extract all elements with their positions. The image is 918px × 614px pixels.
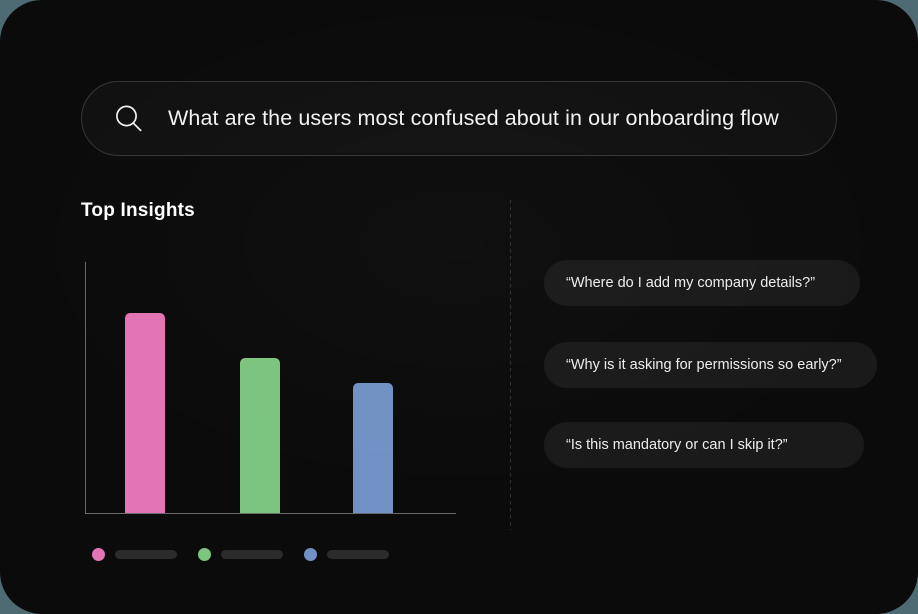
chart-bar[interactable]: [125, 313, 165, 513]
chart-legend: [92, 548, 422, 566]
legend-color-dot: [92, 548, 105, 561]
legend-item[interactable]: [304, 548, 389, 561]
chart-bar[interactable]: [353, 383, 393, 513]
search-bar[interactable]: What are the users most confused about i…: [81, 81, 837, 156]
legend-label-placeholder: [115, 550, 177, 559]
search-icon: [112, 102, 146, 136]
insights-bar-chart: [85, 262, 457, 514]
legend-label-placeholder: [327, 550, 389, 559]
quote-card[interactable]: “Why is it asking for permissions so ear…: [544, 342, 877, 388]
chart-bar[interactable]: [240, 358, 280, 513]
legend-label-placeholder: [221, 550, 283, 559]
legend-item[interactable]: [198, 548, 283, 561]
quote-text: “Why is it asking for permissions so ear…: [566, 357, 842, 373]
legend-color-dot: [198, 548, 211, 561]
legend-color-dot: [304, 548, 317, 561]
section-divider: [510, 200, 511, 530]
search-input[interactable]: What are the users most confused about i…: [168, 106, 779, 131]
app-window: What are the users most confused about i…: [0, 0, 918, 614]
legend-item[interactable]: [92, 548, 177, 561]
chart-x-axis: [85, 513, 456, 514]
quote-text: “Is this mandatory or can I skip it?”: [566, 437, 788, 453]
quote-text: “Where do I add my company details?”: [566, 275, 815, 291]
quote-card[interactable]: “Where do I add my company details?”: [544, 260, 860, 306]
page-title: Top Insights: [81, 200, 195, 222]
chart-y-axis: [85, 262, 86, 513]
quote-card[interactable]: “Is this mandatory or can I skip it?”: [544, 422, 864, 468]
